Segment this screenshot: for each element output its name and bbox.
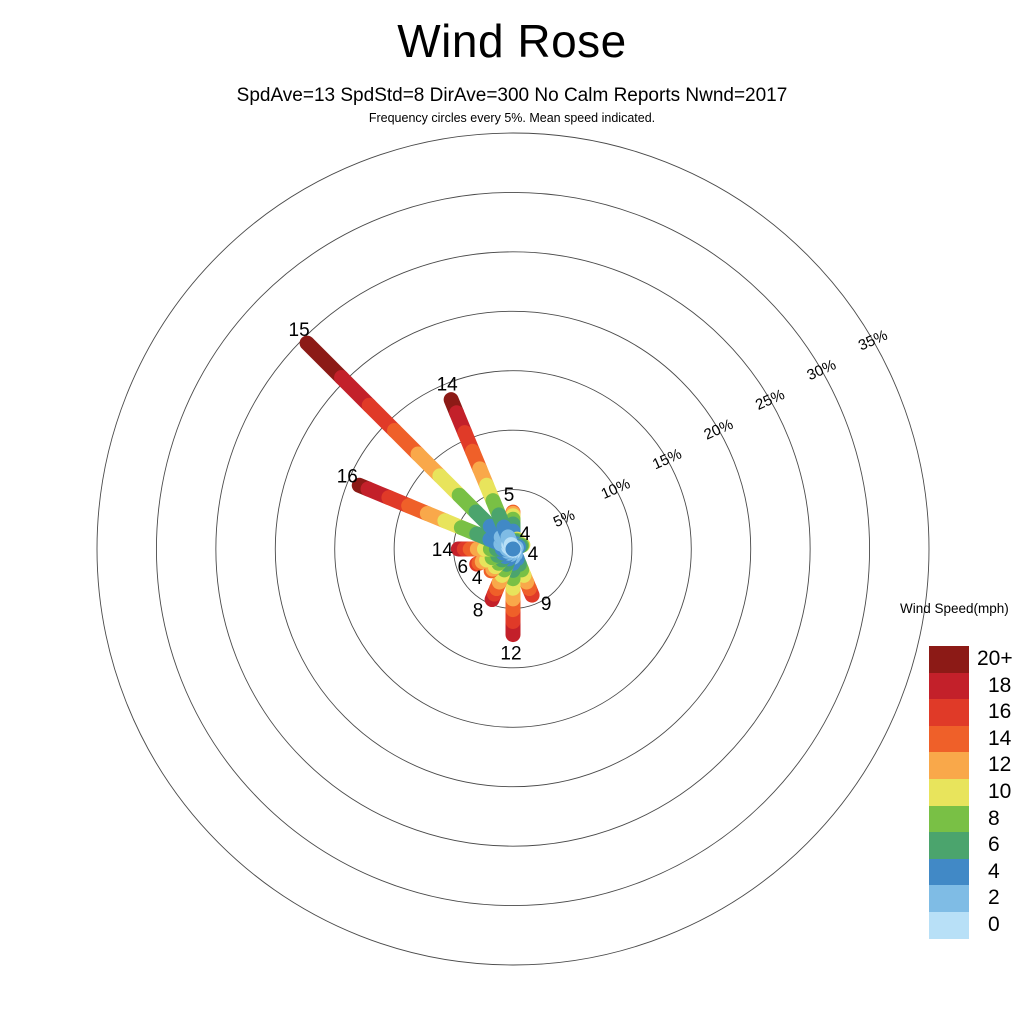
ring-label-30: 30%: [804, 356, 838, 384]
legend-row: 4: [929, 859, 1021, 886]
legend-swatch-20plus: [929, 646, 969, 673]
legend-title: Wind Speed(mph): [900, 601, 1009, 616]
legend-row: 8: [929, 806, 1021, 833]
legend-label-18: 18: [969, 673, 1021, 700]
wind-rose-plot: 5%10%15%20%25%30%35% 54491284614161514: [0, 0, 1024, 1024]
legend-swatch-8: [929, 806, 969, 833]
legend-label-10: 10: [969, 779, 1021, 806]
ring-label-5: 5%: [551, 507, 578, 531]
legend-swatch-0: [929, 912, 969, 939]
petal-label-nnw: 14: [437, 375, 459, 396]
legend-label-8: 8: [969, 806, 1021, 833]
petal-label-nne: 4: [520, 524, 531, 545]
legend-swatch-18: [929, 673, 969, 700]
petal-label-ene: 4: [528, 544, 539, 565]
legend-row: 2: [929, 885, 1021, 912]
petal-label-wnw: 16: [337, 466, 358, 487]
legend-label-12: 12: [969, 752, 1021, 779]
wind-petals: [307, 343, 532, 634]
legend-swatch-12: [929, 752, 969, 779]
legend-swatch-4: [929, 859, 969, 886]
legend-swatch-16: [929, 699, 969, 726]
legend-row: 20+: [929, 646, 1021, 673]
petal-nw: [307, 343, 513, 549]
ring-label-15: 15%: [650, 445, 684, 473]
legend-swatch-14: [929, 726, 969, 753]
legend-label-16: 16: [969, 699, 1021, 726]
petal-label-n: 5: [504, 485, 515, 506]
rose-center-hub: [506, 542, 521, 557]
wind-speed-legend: 20+181614121086420: [929, 646, 1021, 939]
legend-row: 18: [929, 673, 1021, 700]
legend-row: 16: [929, 699, 1021, 726]
petal-label-w: 14: [432, 540, 454, 561]
ring-label-20: 20%: [701, 416, 735, 444]
ring-label-25: 25%: [753, 386, 787, 414]
legend-label-0: 0: [969, 912, 1021, 939]
legend-row: 10: [929, 779, 1021, 806]
legend-label-4: 4: [969, 859, 1021, 886]
legend-swatch-2: [929, 885, 969, 912]
legend-label-2: 2: [969, 885, 1021, 912]
legend-row: 0: [929, 912, 1021, 939]
petal-label-sse: 9: [541, 594, 552, 615]
petal-label-s: 12: [500, 644, 521, 665]
petal-label-nw: 15: [289, 320, 310, 341]
petal-label-wsw: 6: [457, 557, 468, 578]
ring-label-10: 10%: [599, 475, 633, 503]
legend-row: 12: [929, 752, 1021, 779]
legend-row: 6: [929, 832, 1021, 859]
ring-percent-labels: 5%10%15%20%25%30%35%: [551, 327, 890, 531]
petal-label-ssw: 8: [473, 601, 484, 622]
hub-core: [506, 542, 521, 557]
legend-label-6: 6: [969, 832, 1021, 859]
ring-label-35: 35%: [856, 327, 890, 355]
legend-row: 14: [929, 726, 1021, 753]
legend-label-14: 14: [969, 726, 1021, 753]
legend-swatch-6: [929, 832, 969, 859]
petal-label-sw: 4: [472, 568, 483, 589]
legend-label-20plus: 20+: [969, 646, 1021, 673]
wind-rose-page: Wind Rose SpdAve=13 SpdStd=8 DirAve=300 …: [0, 0, 1024, 1024]
legend-swatch-10: [929, 779, 969, 806]
